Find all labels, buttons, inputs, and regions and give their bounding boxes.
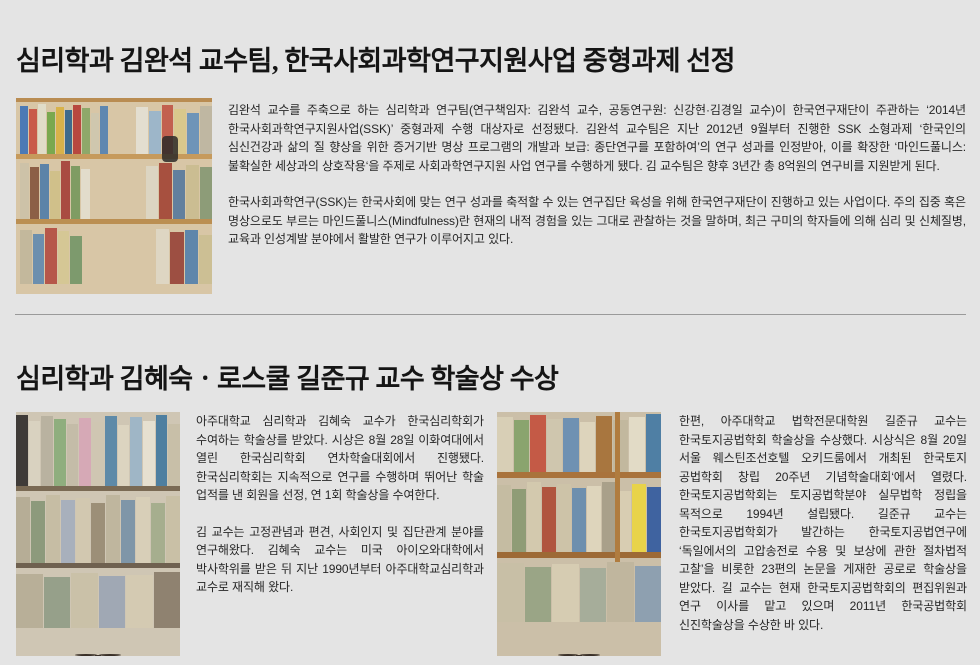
paragraph: 아주대학교 심리학과 김혜숙 교수가 한국심리학회가 수여하는 학술상를 받았다… (196, 412, 484, 505)
article-two-heading: 심리학과 김혜숙ㆍ로스쿨 길준규 교수 학술상 수상 (16, 363, 558, 395)
paragraph: 한국사회과학연구(SSK)는 한국사회에 맞는 연구 성과를 축적할 수 있는 … (228, 193, 966, 249)
section-divider (15, 314, 966, 315)
article-kimwanseok: 심리학과 김완석 교수팀, 한국사회과학연구지원사업 중형과제 선정 (0, 0, 980, 300)
paragraph: 김완석 교수를 주축으로 하는 심리학과 연구팀(연구책임자: 김완석 교수, … (228, 101, 966, 175)
bookshelf-background (16, 412, 180, 656)
article-one-body: 김완석 교수를 주축으로 하는 심리학과 연구팀(연구책임자: 김완석 교수, … (228, 101, 966, 249)
bookshelf-background (16, 98, 212, 294)
photo-kimwanseok (16, 98, 212, 294)
article-one-heading: 심리학과 김완석 교수팀, 한국사회과학연구지원사업 중형과제 선정 (16, 45, 735, 77)
article-awards: 심리학과 김혜숙ㆍ로스쿨 길준규 교수 학술상 수상 (0, 316, 980, 665)
photo-kimhyesook (16, 412, 180, 656)
photo-giljungyu (497, 412, 661, 656)
paragraph: 김 교수는 고정관념과 편견, 사회인지 및 집단관계 분야를 연구해왔다. 김… (196, 523, 484, 597)
bookshelf-background (497, 412, 661, 656)
paragraph: 한편, 아주대학교 법학전문대학원 길준규 교수는 한국토지공법학회 학술상을 … (679, 412, 967, 634)
article-two-left-body: 아주대학교 심리학과 김혜숙 교수가 한국심리학회가 수여하는 학술상를 받았다… (196, 412, 484, 597)
article-two-right-body: 한편, 아주대학교 법학전문대학원 길준규 교수는 한국토지공법학회 학술상을 … (679, 412, 967, 634)
